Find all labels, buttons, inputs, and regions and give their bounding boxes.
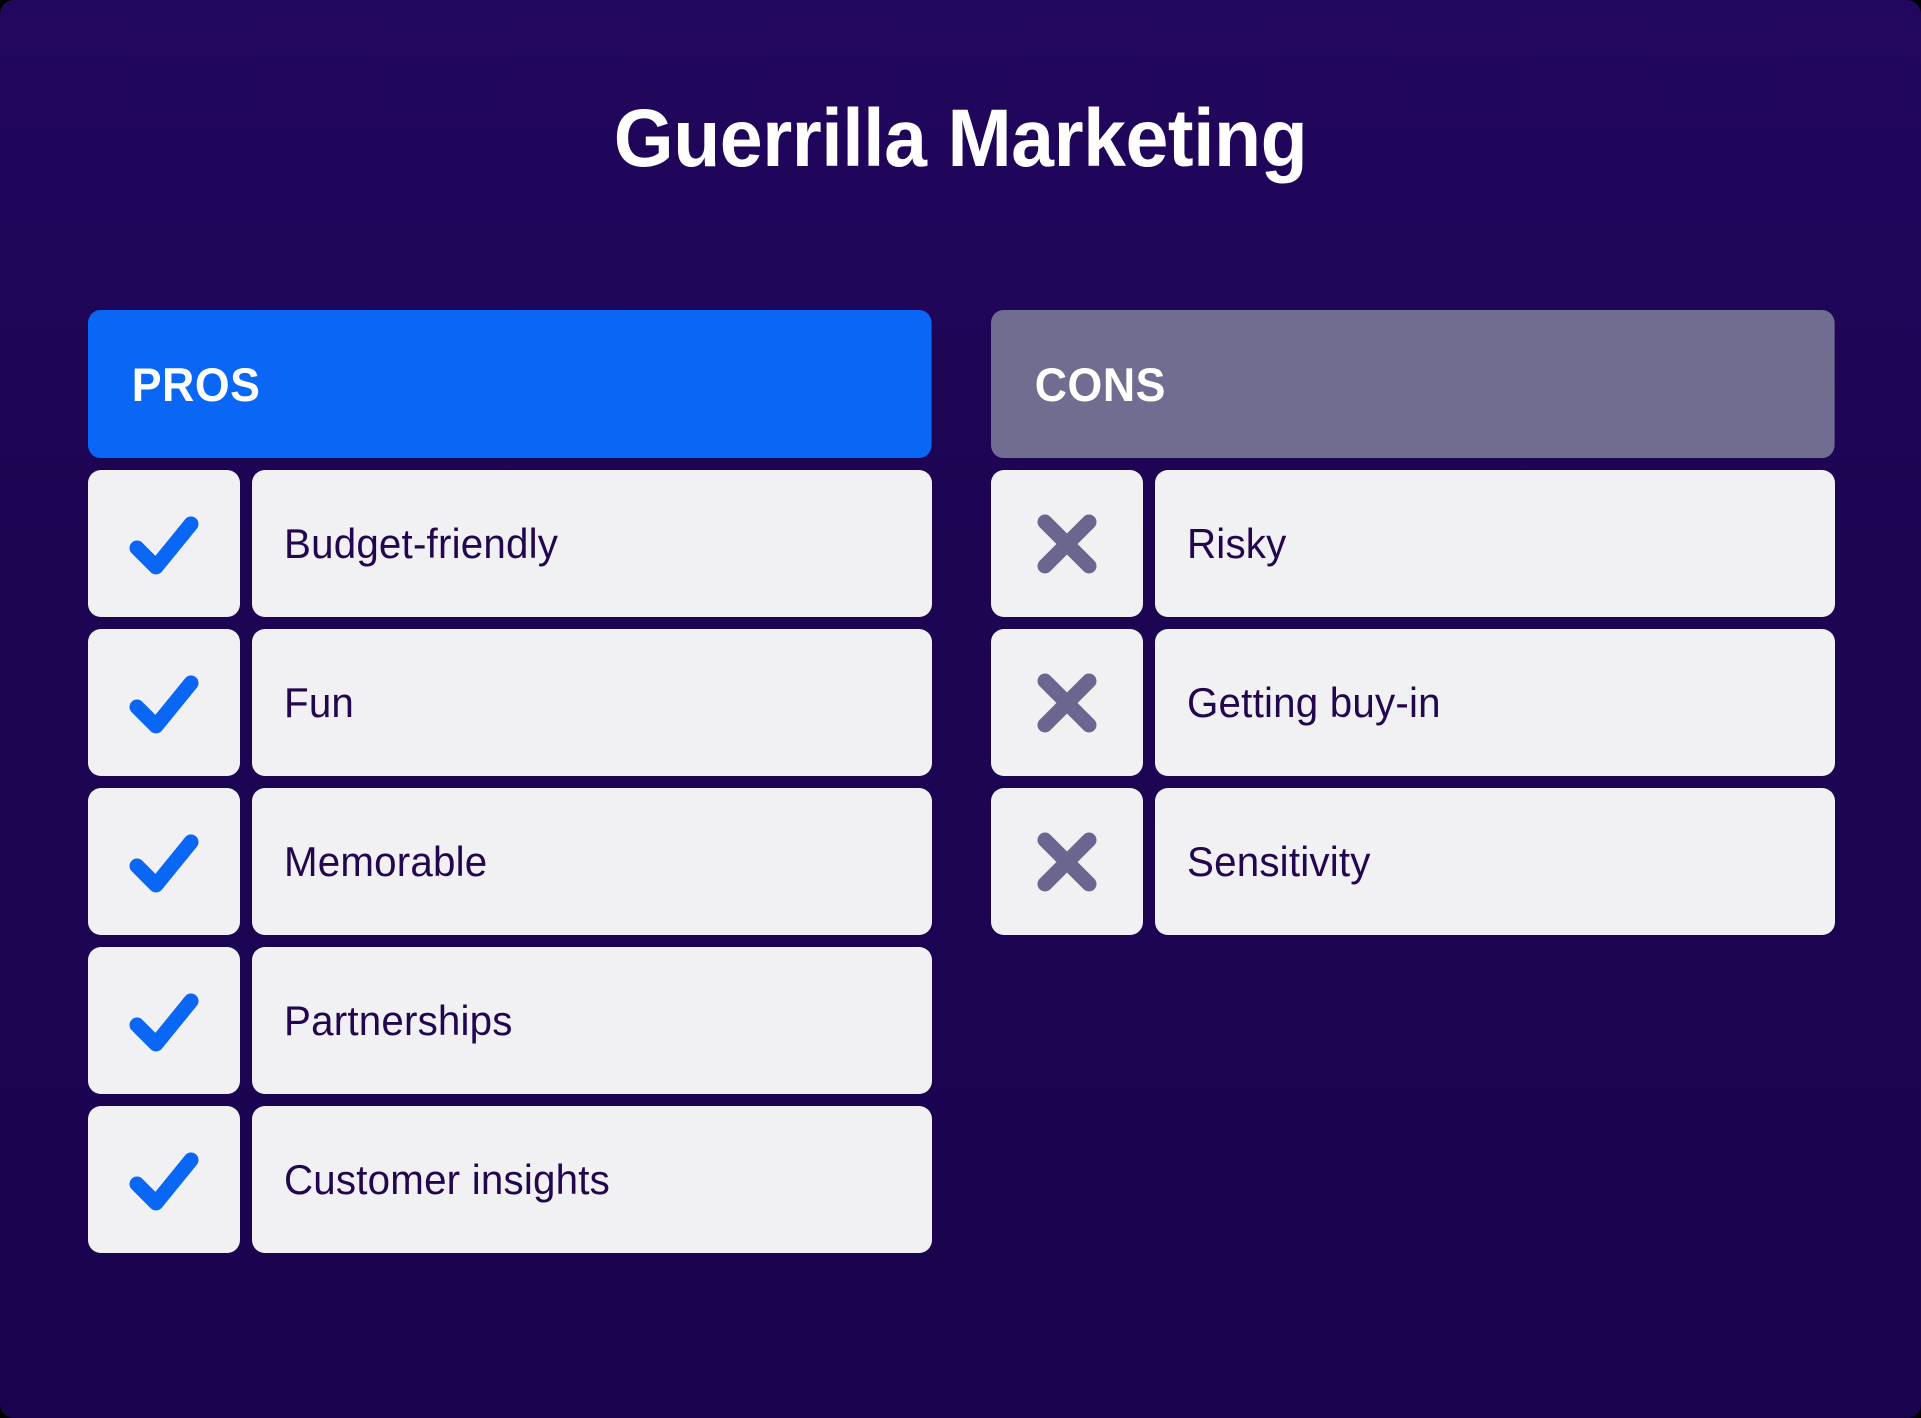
- list-item[interactable]: Memorable: [88, 788, 932, 935]
- cons-header-label: CONS: [1035, 357, 1166, 412]
- check-icon: [118, 498, 210, 590]
- list-item-card: Getting buy-in: [1155, 629, 1835, 776]
- list-item-label: Sensitivity: [1187, 838, 1371, 886]
- list-item-label: Partnerships: [284, 997, 513, 1045]
- check-icon-box: [88, 947, 240, 1094]
- check-icon: [118, 816, 210, 908]
- list-item-label: Fun: [284, 679, 354, 727]
- list-item[interactable]: Budget-friendly: [88, 470, 932, 617]
- check-icon: [118, 975, 210, 1067]
- cons-column-header: CONS: [991, 310, 1834, 458]
- list-item-label: Getting buy-in: [1187, 679, 1441, 727]
- list-item[interactable]: Customer insights: [88, 1106, 932, 1253]
- list-item-label: Customer insights: [284, 1156, 610, 1204]
- cross-icon: [1021, 498, 1113, 590]
- list-item-card: Sensitivity: [1155, 788, 1835, 935]
- list-item-label: Budget-friendly: [284, 520, 558, 568]
- cross-icon-box: [991, 788, 1143, 935]
- list-item[interactable]: Partnerships: [88, 947, 932, 1094]
- check-icon-box: [88, 470, 240, 617]
- cross-icon-box: [991, 470, 1143, 617]
- cons-item-list: Risky Getting buy-in: [991, 470, 1835, 935]
- list-item-card: Risky: [1155, 470, 1835, 617]
- list-item-card: Partnerships: [252, 947, 932, 1094]
- list-item[interactable]: Fun: [88, 629, 932, 776]
- list-item[interactable]: Sensitivity: [991, 788, 1835, 935]
- list-item-label: Memorable: [284, 838, 487, 886]
- cross-icon-box: [991, 629, 1143, 776]
- list-item-label: Risky: [1187, 520, 1287, 568]
- cross-icon: [1021, 816, 1113, 908]
- pros-item-list: Budget-friendly Fun: [88, 470, 932, 1253]
- check-icon-box: [88, 788, 240, 935]
- list-item[interactable]: Risky: [991, 470, 1835, 617]
- list-item-card: Customer insights: [252, 1106, 932, 1253]
- check-icon-box: [88, 1106, 240, 1253]
- list-item[interactable]: Getting buy-in: [991, 629, 1835, 776]
- pros-cons-columns: PROS Budget-friendly: [88, 310, 1836, 1253]
- slide-canvas: Guerrilla Marketing PROS Budget-friendly: [0, 0, 1921, 1418]
- pros-column-header: PROS: [88, 310, 931, 458]
- list-item-card: Fun: [252, 629, 932, 776]
- pros-column: PROS Budget-friendly: [88, 310, 932, 1253]
- page-title: Guerrilla Marketing: [58, 96, 1864, 182]
- cross-icon: [1021, 657, 1113, 749]
- check-icon: [118, 657, 210, 749]
- list-item-card: Memorable: [252, 788, 932, 935]
- pros-header-label: PROS: [132, 357, 261, 412]
- check-icon: [118, 1134, 210, 1226]
- check-icon-box: [88, 629, 240, 776]
- cons-column: CONS Risky: [991, 310, 1835, 935]
- list-item-card: Budget-friendly: [252, 470, 932, 617]
